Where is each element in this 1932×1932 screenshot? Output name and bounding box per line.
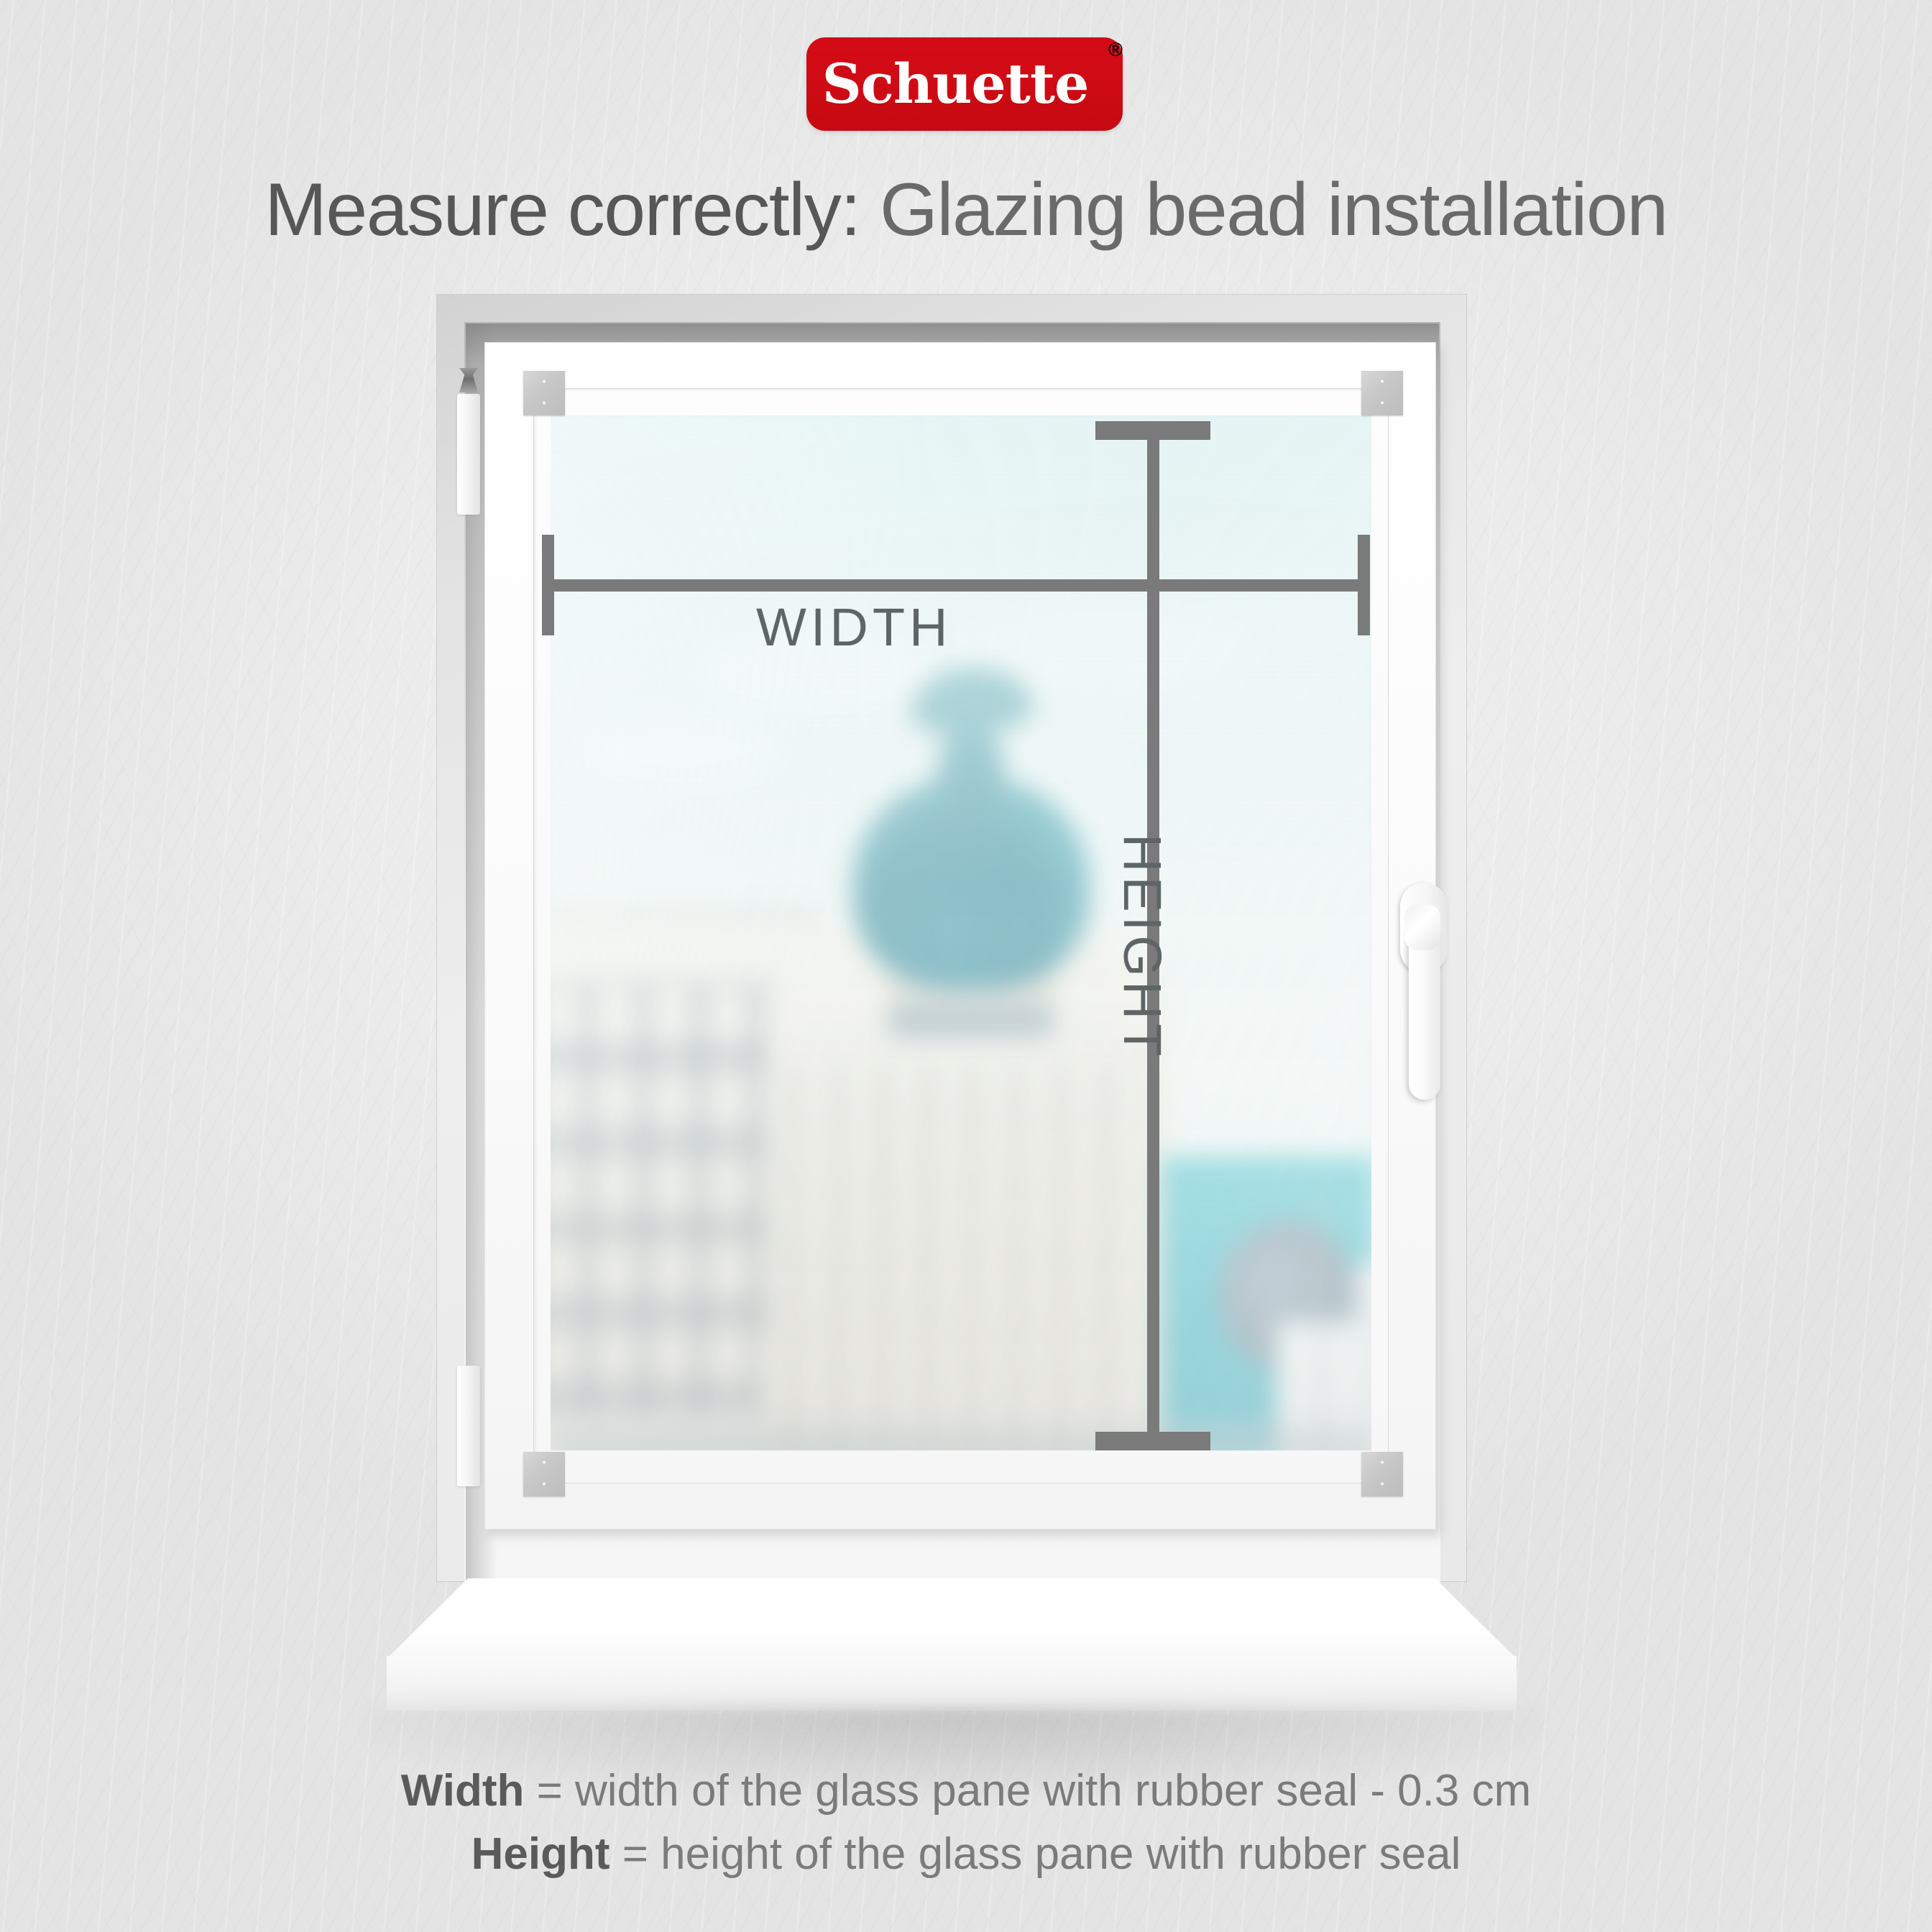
- caption-value-height: = height of the glass pane with rubber s…: [609, 1829, 1460, 1879]
- height-measure-cap-bottom: [1095, 1432, 1210, 1450]
- caption-key-width: Width: [401, 1766, 525, 1816]
- poster-canvas: Schuette ® Measure correctly: Glazing be…: [0, 0, 1932, 1932]
- caption-line-height: Height = height of the glass pane with r…: [0, 1823, 1932, 1886]
- width-measure-cap-right: [1358, 535, 1370, 635]
- caption-value-width: = width of the glass pane with rubber se…: [524, 1766, 1531, 1816]
- caption-block: Width = width of the glass pane with rub…: [0, 1759, 1932, 1886]
- width-measure-cap-left: [542, 535, 554, 635]
- width-label: WIDTH: [756, 597, 952, 658]
- width-measure-line: [542, 579, 1370, 592]
- caption-line-width: Width = width of the glass pane with rub…: [0, 1759, 1932, 1823]
- measurement-overlay: WIDTH HEIGHT: [0, 0, 1932, 1932]
- height-measure-cap-top: [1095, 421, 1210, 440]
- caption-key-height: Height: [471, 1829, 610, 1879]
- height-label: HEIGHT: [1112, 834, 1173, 1061]
